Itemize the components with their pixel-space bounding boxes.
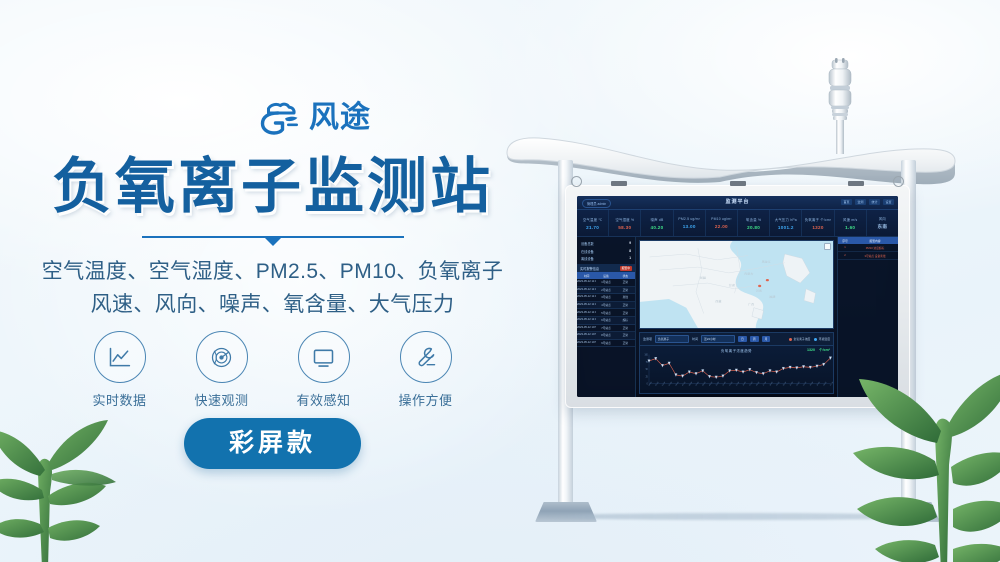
kpi-label: 大气压力 hPa xyxy=(775,217,797,222)
kpi-cell: PM2.5 ug/m³13.00 xyxy=(674,210,706,236)
kpi-label: 噪声 dB xyxy=(651,217,664,222)
table-cell: 2023-05-12 10:59:40 xyxy=(577,325,596,332)
table-row[interactable]: 2023-05-12 11:05:221号站点正常 xyxy=(577,279,635,287)
dashboard-header: 管理员 admin 监测平台 首页 监测 统计 设置 xyxy=(577,196,898,210)
alarm-cell: 1 xyxy=(838,244,852,251)
chart-range-label: 时间 xyxy=(692,337,698,341)
spec-line-2: 风速、风向、噪声、氧含量、大气压力 xyxy=(0,289,545,322)
nav-item[interactable]: 监测 xyxy=(855,199,866,205)
table-row[interactable]: 2023-05-12 11:01:335号站点正常 xyxy=(577,309,635,317)
table-row[interactable]: 2023-05-12 11:03:053号站点离线 xyxy=(577,294,635,302)
alarm-col-index: 序号 xyxy=(838,237,852,244)
svg-text:18:00: 18:00 xyxy=(769,382,773,387)
table-cell: 2023-05-12 10:58:26 xyxy=(577,332,596,339)
table-cell: 正常 xyxy=(616,325,635,332)
feature-item-easy-operation[interactable]: 操作方便 xyxy=(388,331,464,409)
legend-entry: 环境温度 xyxy=(814,337,830,341)
kpi-cell: PM10 ug/m³22.00 xyxy=(706,210,738,236)
svg-text:04:00: 04:00 xyxy=(675,382,679,387)
brand-name: 风途 xyxy=(309,103,371,133)
device-stat-value: 8 xyxy=(629,249,631,254)
legend-entry: 负氧离子浓度 xyxy=(789,337,810,341)
spec-line-1: 空气温度、空气湿度、PM2.5、PM10、负氧离子 xyxy=(0,256,545,289)
svg-text:21:00: 21:00 xyxy=(790,382,794,387)
svg-text:15:00: 15:00 xyxy=(749,382,753,387)
alarm-table-body: 1PM10 浓度超标23号站点 设备离线 xyxy=(838,244,898,260)
device-stat-row: 在线设备8 xyxy=(581,249,631,254)
kpi-value: 21.70 xyxy=(586,225,599,230)
svg-text:02:00: 02:00 xyxy=(662,382,666,387)
device-stat-label: 设备总数 xyxy=(581,241,594,246)
svg-text:25:00: 25:00 xyxy=(816,382,820,387)
device-stat-label: 在线设备 xyxy=(581,249,594,254)
svg-text:西藏: 西藏 xyxy=(715,299,721,302)
device-stat-label: 离线设备 xyxy=(581,256,594,261)
kpi-cell: 负氧离子 个/cm³1320 xyxy=(802,210,834,236)
chart-range-select[interactable]: 近24小时 xyxy=(701,335,735,343)
chart-line-series: 025507510000:0001:0002:0003:0004:0005:00… xyxy=(640,352,833,393)
svg-text:01:00: 01:00 xyxy=(655,382,659,387)
records-col-header: 时间 xyxy=(577,272,596,279)
table-cell: 2023-05-12 11:05:22 xyxy=(577,279,596,286)
svg-text:河南: 河南 xyxy=(756,289,762,292)
alarm-cell: 2 xyxy=(838,252,852,259)
kpi-cell: 风速 m/s1.60 xyxy=(835,210,867,236)
device-stats: 设备总数9在线设备8离线设备1 xyxy=(577,237,635,264)
table-cell: 超标 xyxy=(616,317,635,324)
device-stat-value: 9 xyxy=(629,241,631,246)
divider-triangle-icon xyxy=(265,238,281,246)
table-cell: 9号站点 xyxy=(596,340,615,347)
kpi-cell: 大气压力 hPa1001.2 xyxy=(770,210,802,236)
svg-text:11:00: 11:00 xyxy=(722,382,726,387)
kpi-value: 东南 xyxy=(878,224,888,230)
alarm-row[interactable]: 1PM10 浓度超标 xyxy=(838,244,898,252)
legend-swatch xyxy=(789,338,792,341)
banana-leaves-icon xyxy=(829,357,1000,562)
base-plate-icon xyxy=(535,502,597,522)
monitor-screen-icon xyxy=(298,331,350,383)
chart-range-button-day[interactable]: 日 xyxy=(738,336,747,342)
svg-text:75: 75 xyxy=(646,362,649,364)
table-cell: 4号站点 xyxy=(596,302,615,309)
kpi-label: 空气温度 ℃ xyxy=(583,217,603,222)
records-col-header: 状态 xyxy=(616,272,635,279)
color-screen-model-button[interactable]: 彩屏款 xyxy=(184,418,361,469)
map-panel[interactable]: 新疆甘肃 内蒙古河南 广西福建 黑龙江西藏 xyxy=(639,240,834,329)
legend-label: 负氧离子浓度 xyxy=(794,337,811,341)
feature-label: 操作方便 xyxy=(388,390,464,409)
kpi-cell: 空气温度 ℃21.70 xyxy=(577,210,609,236)
divider xyxy=(0,236,545,238)
kpi-row: 空气温度 ℃21.70空气湿度 %58.30噪声 dB40.20PM2.5 ug… xyxy=(577,210,898,237)
chart-field-label: 监测项 xyxy=(643,337,652,341)
page-title: 负氧离子监测站 xyxy=(0,155,545,220)
chart-toolbar: 监测项 负氧离子 时间 近24小时 日 周 月 负氧离子浓度环境温度 xyxy=(639,332,834,346)
legend-swatch xyxy=(814,338,817,341)
table-row[interactable]: 2023-05-12 11:04:182号站点正常 xyxy=(577,287,635,295)
table-cell: 正常 xyxy=(616,279,635,286)
feature-item-effective-sensing[interactable]: 有效感知 xyxy=(286,331,362,409)
kpi-label: 氧含量 % xyxy=(746,217,761,222)
dashboard-nav[interactable]: 首页 监测 统计 设置 xyxy=(841,199,894,205)
line-chart-icon xyxy=(94,331,146,383)
records-col-header: 设备 xyxy=(596,272,615,279)
svg-text:22:00: 22:00 xyxy=(796,382,800,387)
status-badge: 报警中 xyxy=(620,266,632,271)
alarm-table-caption-bar: 实时报警信息 报警中 xyxy=(577,264,635,272)
table-cell: 1号站点 xyxy=(596,279,615,286)
svg-text:06:00: 06:00 xyxy=(689,382,693,387)
mount-tab-icon xyxy=(730,181,746,186)
chart-plot-area: 负氧离子浓度趋势 1320 个/cm³ 025507510000:0001:00… xyxy=(639,346,834,394)
records-table-header: 时间设备状态 xyxy=(577,272,635,279)
svg-text:20:00: 20:00 xyxy=(783,382,787,387)
chart-field-select[interactable]: 负氧离子 xyxy=(655,335,689,343)
table-cell: 3号站点 xyxy=(596,294,615,301)
alarm-table-caption: 实时报警信息 xyxy=(580,266,599,271)
kpi-value: 1001.2 xyxy=(778,225,794,230)
table-cell: 5号站点 xyxy=(596,309,615,316)
svg-text:100: 100 xyxy=(645,354,649,356)
table-row[interactable]: 2023-05-12 10:57:119号站点正常 xyxy=(577,340,635,348)
legend-label: 环境温度 xyxy=(819,337,830,341)
table-row[interactable]: 2023-05-12 10:58:268号站点正常 xyxy=(577,332,635,340)
table-row[interactable]: 2023-05-12 11:00:126号站点超标 xyxy=(577,317,635,325)
svg-text:07:00: 07:00 xyxy=(695,382,699,387)
device-stat-row: 离线设备1 xyxy=(581,256,631,261)
svg-text:09:00: 09:00 xyxy=(709,382,713,387)
mount-ring-icon xyxy=(571,176,582,187)
svg-text:26:00: 26:00 xyxy=(823,382,827,387)
mount-tab-icon xyxy=(848,181,864,186)
kpi-label: PM10 ug/m³ xyxy=(711,217,731,221)
kpi-cell: 噪声 dB40.20 xyxy=(641,210,673,236)
svg-text:17:00: 17:00 xyxy=(763,382,767,387)
table-cell: 正常 xyxy=(616,287,635,294)
kpi-value: 40.20 xyxy=(651,225,664,230)
map-zoom-icon[interactable] xyxy=(824,243,831,250)
feature-label: 有效感知 xyxy=(286,390,362,409)
kpi-cell: 氧含量 %20.80 xyxy=(738,210,770,236)
kpi-value: 20.80 xyxy=(747,225,760,230)
table-row[interactable]: 2023-05-12 11:02:474号站点正常 xyxy=(577,302,635,310)
table-cell: 2023-05-12 10:57:11 xyxy=(577,340,596,347)
feature-label: 快速观测 xyxy=(184,390,260,409)
kpi-cell: 风向东南 xyxy=(867,210,898,236)
device-stat-row: 设备总数9 xyxy=(581,241,631,246)
alarm-cell: 3号站点 设备离线 xyxy=(852,252,898,259)
svg-text:23:00: 23:00 xyxy=(803,382,807,387)
kpi-label: PM2.5 ug/m³ xyxy=(678,217,700,221)
svg-text:50: 50 xyxy=(646,369,649,371)
table-cell: 正常 xyxy=(616,309,635,316)
mount-tab-icon xyxy=(611,181,627,186)
nav-item[interactable]: 首页 xyxy=(841,199,852,205)
alarm-row[interactable]: 23号站点 设备离线 xyxy=(838,252,898,260)
table-cell: 2023-05-12 11:04:18 xyxy=(577,287,596,294)
wrench-icon xyxy=(400,331,452,383)
spec-subtitle: 空气温度、空气湿度、PM2.5、PM10、负氧离子 风速、风向、噪声、氧含量、大… xyxy=(0,256,545,321)
svg-text:10:00: 10:00 xyxy=(716,382,720,387)
kpi-value: 1.60 xyxy=(845,225,855,230)
kpi-cell: 空气湿度 %58.30 xyxy=(609,210,641,236)
svg-text:19:00: 19:00 xyxy=(776,382,780,387)
svg-text:黑龙江: 黑龙江 xyxy=(762,260,772,263)
kpi-value: 13.00 xyxy=(683,224,696,229)
svg-text:13:00: 13:00 xyxy=(736,382,740,387)
svg-text:25: 25 xyxy=(646,376,649,378)
nav-item[interactable]: 设置 xyxy=(883,199,894,205)
left-data-panel: 设备总数9在线设备8离线设备1 实时报警信息 报警中 时间设备状态2023-05… xyxy=(577,237,636,397)
kpi-label: 负氧离子 个/cm³ xyxy=(805,217,832,222)
table-cell: 正常 xyxy=(616,340,635,347)
alarm-cell: PM10 浓度超标 xyxy=(852,244,898,251)
chart-range-button-month[interactable]: 月 xyxy=(762,336,771,342)
table-cell: 2023-05-12 11:00:12 xyxy=(577,317,596,324)
svg-text:14:00: 14:00 xyxy=(742,382,746,387)
svg-text:12:00: 12:00 xyxy=(729,382,733,387)
kpi-value: 1320 xyxy=(812,225,823,230)
feature-item-fast-observation[interactable]: 快速观测 xyxy=(184,331,260,409)
cloud-leaf-logo-icon xyxy=(258,101,302,135)
svg-text:05:00: 05:00 xyxy=(682,382,686,387)
chart-legend: 负氧离子浓度环境温度 xyxy=(789,337,830,341)
table-cell: 2023-05-12 11:03:05 xyxy=(577,294,596,301)
chart-range-button-week[interactable]: 周 xyxy=(750,336,759,342)
radar-observation-icon xyxy=(196,331,248,383)
device-stat-value: 1 xyxy=(629,256,631,261)
table-row[interactable]: 2023-05-12 10:59:407号站点正常 xyxy=(577,325,635,333)
records-table: 时间设备状态2023-05-12 11:05:221号站点正常2023-05-1… xyxy=(577,272,635,347)
table-cell: 正常 xyxy=(616,332,635,339)
kpi-label: 风向 xyxy=(879,216,886,221)
table-cell: 8号站点 xyxy=(596,332,615,339)
brand-logo: 风途 xyxy=(258,101,371,135)
svg-text:新疆: 新疆 xyxy=(700,276,706,279)
svg-text:甘肃: 甘肃 xyxy=(729,283,735,286)
svg-text:广西: 广西 xyxy=(748,302,754,305)
table-cell: 6号站点 xyxy=(596,317,615,324)
kpi-value: 58.30 xyxy=(618,225,631,230)
kpi-label: 风速 m/s xyxy=(843,217,857,222)
nav-item[interactable]: 统计 xyxy=(869,199,880,205)
table-cell: 2023-05-12 11:02:47 xyxy=(577,302,596,309)
center-panel: 新疆甘肃 内蒙古河南 广西福建 黑龙江西藏 xyxy=(636,237,837,397)
kpi-label: 空气湿度 % xyxy=(615,217,634,222)
alarm-col-content: 报警内容 xyxy=(852,237,898,244)
table-cell: 7号站点 xyxy=(596,325,615,332)
product-banner: 风途 负氧离子监测站 空气温度、空气湿度、PM2.5、PM10、负氧离子 风速、… xyxy=(0,0,1000,562)
svg-text:16:00: 16:00 xyxy=(756,382,760,387)
table-cell: 2023-05-12 11:01:33 xyxy=(577,309,596,316)
svg-text:内蒙古: 内蒙古 xyxy=(744,272,754,275)
trend-chart-panel: 监测项 负氧离子 时间 近24小时 日 周 月 负氧离子浓度环境温度 负氧离子浓… xyxy=(639,332,834,394)
map-graphic: 新疆甘肃 内蒙古河南 广西福建 黑龙江西藏 xyxy=(640,241,833,328)
alarm-table-header: 序号 报警内容 xyxy=(838,237,898,244)
svg-text:福建: 福建 xyxy=(769,295,775,298)
svg-text:08:00: 08:00 xyxy=(702,382,706,387)
svg-text:24:00: 24:00 xyxy=(810,382,814,387)
banana-leaves-icon xyxy=(0,378,180,562)
table-cell: 离线 xyxy=(616,294,635,301)
kpi-value: 22.00 xyxy=(715,224,728,229)
table-cell: 2号站点 xyxy=(596,287,615,294)
mount-ring-icon xyxy=(893,176,904,187)
table-cell: 正常 xyxy=(616,302,635,309)
svg-text:03:00: 03:00 xyxy=(669,382,673,387)
